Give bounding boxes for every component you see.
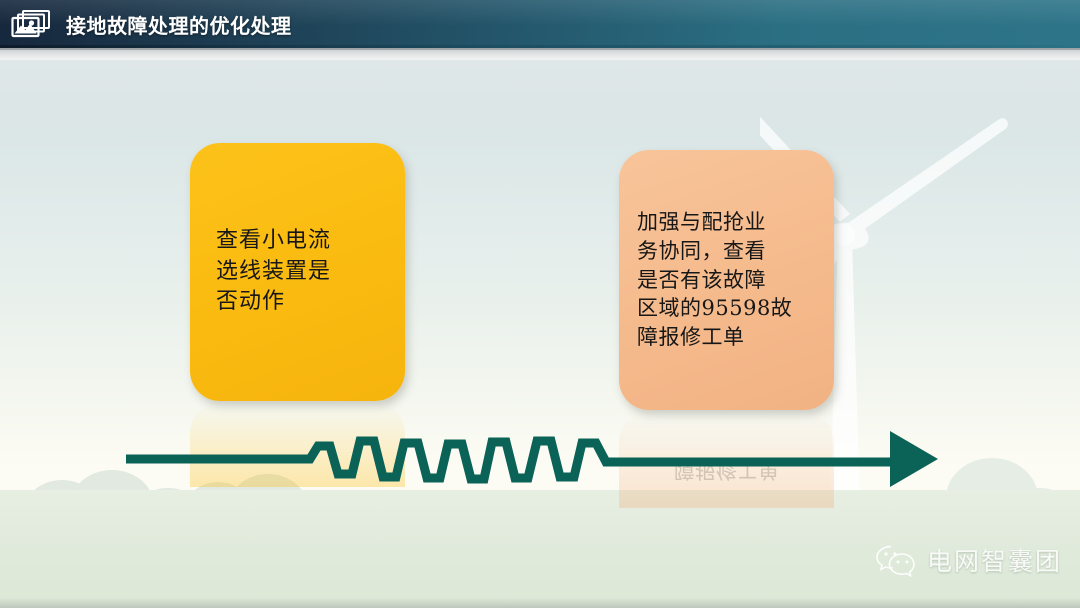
- watermark: 电网智囊团: [875, 542, 1062, 578]
- callout-box-right-text: 加强与配抢业 务协同，查看 是否有该故障 区域的95598故 障报修工单: [619, 208, 834, 353]
- bottom-shadow: [0, 598, 1080, 608]
- slide: 接地故障处理的优化处理: [0, 0, 1080, 608]
- slide-header: 接地故障处理的优化处理: [0, 0, 1080, 48]
- callout-box-right[interactable]: 加强与配抢业 务协同，查看 是否有该故障 区域的95598故 障报修工单: [619, 150, 834, 410]
- background-scene: [0, 60, 1080, 608]
- callout-box-left[interactable]: 查看小电流 选线装置是 否动作: [190, 143, 405, 401]
- watermark-text: 电网智囊团: [927, 542, 1062, 578]
- callout-box-left-text: 查看小电流 选线装置是 否动作: [190, 226, 405, 317]
- page-title: 接地故障处理的优化处理: [66, 0, 292, 48]
- wechat-icon: [875, 543, 917, 577]
- photo-stack-icon: [9, 9, 57, 39]
